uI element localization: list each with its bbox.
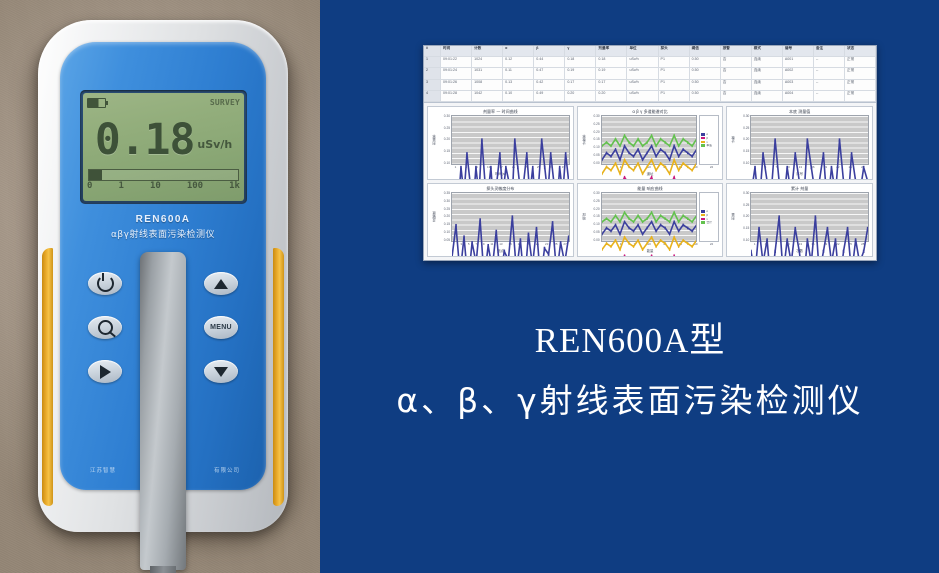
chart-data-point [633, 145, 634, 148]
chart-data-point [682, 214, 683, 217]
chart-legend-label: γ [706, 218, 707, 221]
chart-y-ticks: 0.300.250.200.150.10 [437, 115, 451, 165]
device-model-description: αβγ射线表面污染检测仪 [60, 227, 266, 240]
chart-data-point [696, 239, 697, 242]
chart-legend-swatch [701, 133, 705, 136]
chart-data-point [755, 166, 757, 169]
table-cell: 正常 [845, 91, 876, 101]
chart-data-point [606, 152, 607, 155]
chart-data-point [759, 227, 761, 230]
chart-y-tick: 0.15 [444, 150, 450, 153]
chart-legend-swatch [701, 221, 705, 224]
data-table: #时间计数αβγ剂量率单位探头阈值报警模式编号备注状态109:01:221024… [424, 46, 876, 103]
chart-data-point [682, 162, 683, 165]
lcd-bargraph-fill [89, 170, 102, 180]
table-cell: 0.18 [596, 57, 627, 67]
table-cell: uSv/h [627, 91, 658, 101]
chart-data-point [678, 245, 679, 248]
chart-data-point [664, 165, 665, 168]
chart-data-point [669, 159, 670, 162]
chart-data-point [495, 230, 497, 233]
chart-legend-swatch [701, 144, 705, 147]
chart-card: 探头灵敏度分布灵敏度0.350.300.250.200.150.100.0513… [427, 183, 574, 257]
chart-data-point [678, 155, 679, 158]
table-row[interactable]: 409:01:2810420.100.490.200.20uSv/hP10.50… [424, 91, 876, 102]
chart-data-point [624, 236, 625, 239]
chart-y-tick: 0.30 [593, 115, 599, 118]
side-grip-left [42, 248, 53, 506]
chart-data-point [682, 138, 683, 141]
chart-data-point [512, 215, 514, 218]
chart-y-tick: 0.15 [593, 138, 599, 141]
table-cell: 正常 [845, 68, 876, 78]
chart-data-point [637, 179, 638, 180]
chart-data-point [602, 159, 603, 162]
chart-data-point [767, 238, 769, 241]
table-cell: 连续 [752, 68, 783, 78]
up-button[interactable] [204, 272, 238, 295]
chart-legend-label: β [706, 214, 708, 217]
chart-y-axis-label: 计数率 [581, 115, 587, 165]
chart-series-line [602, 213, 697, 222]
search-button[interactable] [88, 316, 122, 339]
chart-data-point [514, 138, 516, 141]
chart-data-point [696, 214, 697, 217]
table-cell: 0.50 [690, 57, 721, 67]
table-cell: A002 [783, 68, 814, 78]
chart-plot-area [451, 192, 570, 242]
chart-y-tick: 0.35 [444, 192, 450, 195]
chart-y-tick: 0.30 [444, 115, 450, 118]
table-row[interactable]: 109:01:2210240.120.440.180.18uSv/hP10.50… [424, 57, 876, 68]
chart-series-line [602, 136, 697, 146]
chart-y-axis-label: 灵敏度 [431, 192, 437, 242]
chart-data-point [651, 220, 652, 223]
chart-legend-item: β [701, 214, 717, 217]
chart-y-tick: 0.25 [743, 127, 749, 130]
chart-data-point [637, 138, 638, 141]
chart-data-point [678, 169, 679, 172]
chart-data-point [610, 220, 611, 223]
chart-data-point [835, 238, 837, 241]
chart-data-point [807, 238, 809, 241]
chart-series-line [452, 217, 569, 257]
chart-data-point [615, 138, 616, 141]
down-button[interactable] [204, 360, 238, 383]
table-cell: P1 [659, 91, 690, 101]
chart-data-point [691, 220, 692, 223]
chart-data-point [487, 244, 489, 247]
table-cell: P1 [659, 68, 690, 78]
chart-data-point [619, 159, 620, 162]
chart-body: 灵敏度0.350.300.250.200.150.100.05 [431, 192, 570, 242]
chart-y-axis-label: 计数 [730, 115, 736, 165]
chart-data-point [633, 155, 634, 158]
chart-y-tick: 0.25 [444, 208, 450, 211]
chart-data-point [687, 141, 688, 144]
chart-data-point [664, 152, 665, 155]
chart-y-tick: 0.30 [593, 192, 599, 195]
chart-y-tick: 0.30 [743, 115, 749, 118]
chart-data-point [687, 217, 688, 220]
table-cell: uSv/h [627, 80, 658, 90]
chart-data-point [466, 152, 468, 155]
chart-data-point [867, 227, 868, 230]
chart-data-point [855, 238, 857, 241]
chart-data-point [619, 248, 620, 251]
chart-data-point [696, 179, 697, 180]
lcd-value: 0.18 [95, 119, 195, 162]
chart-data-point [624, 211, 625, 214]
chart-y-tick: 0.15 [593, 215, 599, 218]
chart-data-point [687, 152, 688, 155]
chart-data-point [460, 166, 462, 169]
chart-data-point [475, 166, 477, 169]
table-cell: 0.42 [534, 80, 565, 90]
chart-data-point [565, 152, 567, 155]
chart-legend-item: γ [701, 141, 717, 144]
chart-data-point [610, 245, 611, 248]
chart-data-point [479, 218, 481, 221]
chart-data-point [655, 245, 656, 248]
chart-data-point [673, 159, 674, 162]
chart-body: 响应0.300.250.200.150.100.050.00αβγ合计 [581, 192, 720, 242]
chart-data-point [471, 241, 473, 244]
chart-legend-label: β [706, 137, 708, 140]
table-cell: 1008 [472, 80, 503, 90]
chart-x-tick: 22 [710, 165, 713, 169]
chart-data-point [610, 155, 611, 158]
chart-data-point [655, 169, 656, 172]
slide-canvas: SURVEY 0.18 uSv/h 01101001k REN [0, 0, 939, 573]
chart-card: 累计 剂量剂量0.300.250.200.150.101471013161922… [726, 183, 873, 257]
chart-data-point [602, 233, 603, 236]
chart-data-point [673, 236, 674, 239]
chart-data-point [851, 152, 853, 155]
table-cell: 否 [721, 57, 752, 67]
chart-data-point [624, 145, 625, 148]
table-header-cell: 探头 [659, 46, 690, 56]
chart-legend-swatch [701, 218, 705, 221]
table-header-cell: 剂量率 [596, 46, 627, 56]
menu-button-label: MENU [210, 324, 232, 331]
chart-y-ticks: 0.300.250.200.150.100.050.00 [587, 115, 601, 165]
chart-legend-item: α [701, 133, 717, 136]
chart-data-point [691, 245, 692, 248]
lcd-bargraph [88, 169, 239, 181]
chart-data-point [615, 224, 616, 227]
chart-series-layer [602, 116, 697, 180]
chart-data-point [660, 138, 661, 141]
chart-data-point [628, 165, 629, 168]
chart-data-point [678, 230, 679, 233]
chart-series-line [602, 222, 697, 234]
battery-icon [87, 98, 106, 108]
chart-data-point [528, 233, 530, 236]
table-cell: -- [814, 68, 845, 78]
chart-y-tick: 0.20 [444, 215, 450, 218]
chart-legend-item: 本底 [701, 144, 717, 147]
chart-y-tick: 0.10 [593, 223, 599, 226]
lcd-unit: uSv/h [197, 138, 232, 151]
table-cell: P1 [659, 80, 690, 90]
chart-data-point [517, 166, 519, 169]
chart-data-point [633, 245, 634, 248]
table-cell: uSv/h [627, 57, 658, 67]
chart-data-point [827, 227, 829, 230]
chart-y-ticks: 0.300.250.200.150.10 [736, 192, 750, 242]
chart-data-point [691, 155, 692, 158]
chart-legend-item: γ [701, 218, 717, 221]
chart-data-point [606, 165, 607, 168]
chart-data-point [673, 211, 674, 214]
table-cell: 0.47 [534, 68, 565, 78]
chart-data-point [619, 145, 620, 148]
table-row[interactable]: 309:01:2610080.130.420.170.17uSv/hP10.50… [424, 80, 876, 91]
chart-data-point [526, 152, 528, 155]
chart-y-tick: 0.30 [743, 192, 749, 195]
chart-y-tick: 0.10 [593, 146, 599, 149]
hand-strap-tip [150, 566, 176, 573]
chart-series-layer [452, 193, 569, 257]
table-cell: 0.50 [690, 68, 721, 78]
chart-card: 本底 测量值计数0.300.250.200.150.10147101316192… [726, 106, 873, 180]
chart-data-point [602, 220, 603, 223]
chart-data-point [687, 165, 688, 168]
power-icon [97, 275, 114, 292]
chart-data-point [642, 159, 643, 162]
chart-data-point [615, 148, 616, 151]
chart-data-point [660, 148, 661, 151]
chart-data-point [615, 239, 616, 242]
chart-data-point [795, 152, 797, 155]
chart-data-point [615, 162, 616, 165]
chart-data-point [839, 138, 841, 141]
chart-data-point [669, 172, 670, 175]
table-cell: 0.12 [503, 57, 534, 67]
play-icon [100, 365, 111, 379]
table-header-cell: 阈值 [690, 46, 721, 56]
table-header-cell: 编号 [783, 46, 814, 56]
chart-body: 计数率0.300.250.200.150.100.050.00αβγ本底 [581, 115, 720, 165]
chart-data-point [481, 138, 483, 141]
chart-data-point [651, 134, 652, 137]
table-cell: 0.17 [596, 80, 627, 90]
menu-button[interactable]: MENU [204, 316, 238, 339]
chart-data-point [560, 241, 562, 244]
chart-legend-item: 合计 [701, 221, 717, 224]
chart-data-point [673, 145, 674, 148]
table-cell: 0.10 [503, 91, 534, 101]
charts-area: 剂量率 — 时间曲线剂量率0.300.250.200.150.101591317… [424, 103, 876, 260]
chart-data-point [651, 176, 652, 179]
chart-data-point [544, 247, 546, 250]
table-header-cell: # [424, 46, 441, 56]
chart-data-point [610, 169, 611, 172]
table-header-cell: 计数 [472, 46, 503, 56]
chart-card: 剂量率 — 时间曲线剂量率0.300.250.200.150.101591317… [427, 106, 574, 180]
chart-data-point [682, 239, 683, 242]
table-cell: A003 [783, 80, 814, 90]
chart-data-point [642, 172, 643, 175]
chart-data-point [602, 172, 603, 175]
table-cell: 正常 [845, 57, 876, 67]
chart-data-point [696, 162, 697, 165]
chart-y-ticks: 0.300.250.200.150.10 [736, 115, 750, 165]
chart-data-point [610, 145, 611, 148]
chart-data-point [669, 233, 670, 236]
chart-data-point [637, 239, 638, 242]
chart-y-axis-label: 剂量率 [431, 115, 437, 165]
table-cell: 1 [424, 57, 441, 67]
chart-data-point [646, 217, 647, 220]
chart-data-point [696, 138, 697, 141]
chart-y-tick: 0.05 [593, 154, 599, 157]
chart-legend-swatch [701, 214, 705, 217]
lcd-reading: 0.18 uSv/h [83, 111, 244, 169]
chart-data-point [610, 230, 611, 233]
chart-data-point [779, 215, 781, 218]
lcd-scale-tick: 10 [150, 181, 161, 191]
table-cell: 0.19 [565, 68, 596, 78]
chart-data-point [602, 145, 603, 148]
chart-data-point [655, 220, 656, 223]
chart-data-point [646, 152, 647, 155]
chart-data-point [642, 220, 643, 223]
lcd-bezel: SURVEY 0.18 uSv/h 01101001k [80, 90, 247, 204]
chart-data-point [863, 166, 865, 169]
table-cell: 连续 [752, 91, 783, 101]
title-block: REN600A型 α、β、γ射线表面污染检测仪 [330, 318, 930, 428]
chart-y-tick: 0.20 [593, 208, 599, 211]
chart-data-point [664, 217, 665, 220]
chart-data-point [682, 224, 683, 227]
table-cell: 0.50 [690, 80, 721, 90]
chart-data-point [669, 145, 670, 148]
chart-legend-swatch [701, 210, 705, 213]
table-cell: 1042 [472, 91, 503, 101]
chart-data-point [628, 242, 629, 245]
chart-series-line [602, 146, 697, 160]
chart-legend: αβγ本底 [699, 115, 719, 165]
play-button[interactable] [88, 360, 122, 383]
chart-data-point [651, 236, 652, 239]
chart-series-layer [751, 116, 868, 180]
table-header-cell: γ [565, 46, 596, 56]
chart-data-point [463, 235, 465, 238]
chart-data-point [696, 224, 697, 227]
chart-data-point [678, 220, 679, 223]
chart-legend-label: α [706, 210, 708, 213]
table-cell: 09:01:24 [441, 68, 472, 78]
chart-row: 探头灵敏度分布灵敏度0.350.300.250.200.150.100.0513… [427, 183, 873, 257]
chart-data-point [815, 215, 817, 218]
triangle-down-icon [214, 367, 228, 377]
magnifier-icon [98, 320, 113, 335]
chart-data-point [751, 250, 752, 253]
chart-y-tick: 0.25 [743, 204, 749, 207]
table-cell: 连续 [752, 57, 783, 67]
chart-data-point [646, 227, 647, 230]
triangle-up-icon [214, 279, 228, 289]
table-row[interactable]: 209:01:2410310.110.470.190.19uSv/hP10.50… [424, 68, 876, 79]
table-cell: 2 [424, 68, 441, 78]
table-cell: -- [814, 57, 845, 67]
chart-legend-item: β [701, 137, 717, 140]
chart-data-point [863, 250, 865, 253]
table-cell: 0.13 [503, 80, 534, 90]
chart-data-point [823, 152, 825, 155]
chart-data-point [633, 220, 634, 223]
chart-data-point [503, 250, 505, 253]
table-cell: 09:01:28 [441, 91, 472, 101]
chart-data-point [655, 145, 656, 148]
table-cell: uSv/h [627, 68, 658, 78]
side-grip-right [273, 248, 284, 506]
lcd-status-bar: SURVEY [87, 96, 240, 109]
chart-data-point [536, 227, 538, 230]
chart-data-point [787, 238, 789, 241]
device-label: REN600A αβγ射线表面污染检测仪 [60, 214, 266, 240]
table-cell: 0.49 [534, 91, 565, 101]
chart-series-layer [602, 193, 697, 257]
chart-data-point [799, 250, 801, 253]
table-cell: 0.50 [690, 91, 721, 101]
lcd-scale: 01101001k [87, 181, 240, 195]
chart-data-point [775, 250, 777, 253]
power-button[interactable] [88, 272, 122, 295]
chart-data-point [651, 211, 652, 214]
chart-data-point [664, 141, 665, 144]
chart-data-point [624, 176, 625, 179]
chart-data-point [787, 166, 789, 169]
chart-y-tick: 0.15 [743, 150, 749, 153]
chart-data-point [691, 169, 692, 172]
chart-series-line [602, 256, 697, 257]
chart-data-point [660, 224, 661, 227]
chart-data-point [642, 145, 643, 148]
chart-data-point [673, 134, 674, 137]
chart-data-point [505, 166, 507, 169]
chart-y-tick: 0.20 [743, 138, 749, 141]
chart-series-line [751, 217, 868, 257]
lcd-scale-tick: 1k [229, 181, 240, 191]
chart-data-point [682, 179, 683, 180]
chart-data-point [633, 230, 634, 233]
chart-data-point [673, 176, 674, 179]
chart-legend-item: α [701, 210, 717, 213]
chart-data-point [628, 217, 629, 220]
chart-data-point [548, 253, 550, 256]
chart-data-point [795, 227, 797, 230]
chart-data-point [452, 255, 453, 257]
table-header-cell: 单位 [627, 46, 658, 56]
lcd-scale-tick: 0 [87, 181, 92, 191]
table-cell: 0.19 [596, 68, 627, 78]
chart-data-point [628, 141, 629, 144]
chart-data-point [655, 155, 656, 158]
table-cell: 1031 [472, 68, 503, 78]
chart-data-point [619, 233, 620, 236]
chart-data-point [651, 159, 652, 162]
chart-card: 能量 响应曲线响应0.300.250.200.150.100.050.00αβγ… [577, 183, 724, 257]
chart-data-point [660, 214, 661, 217]
chart-legend-swatch [701, 141, 705, 144]
table-cell: -- [814, 80, 845, 90]
chart-data-point [532, 166, 534, 169]
product-description-title: α、β、γ射线表面污染检测仪 [330, 374, 930, 428]
chart-series-line [452, 140, 569, 180]
